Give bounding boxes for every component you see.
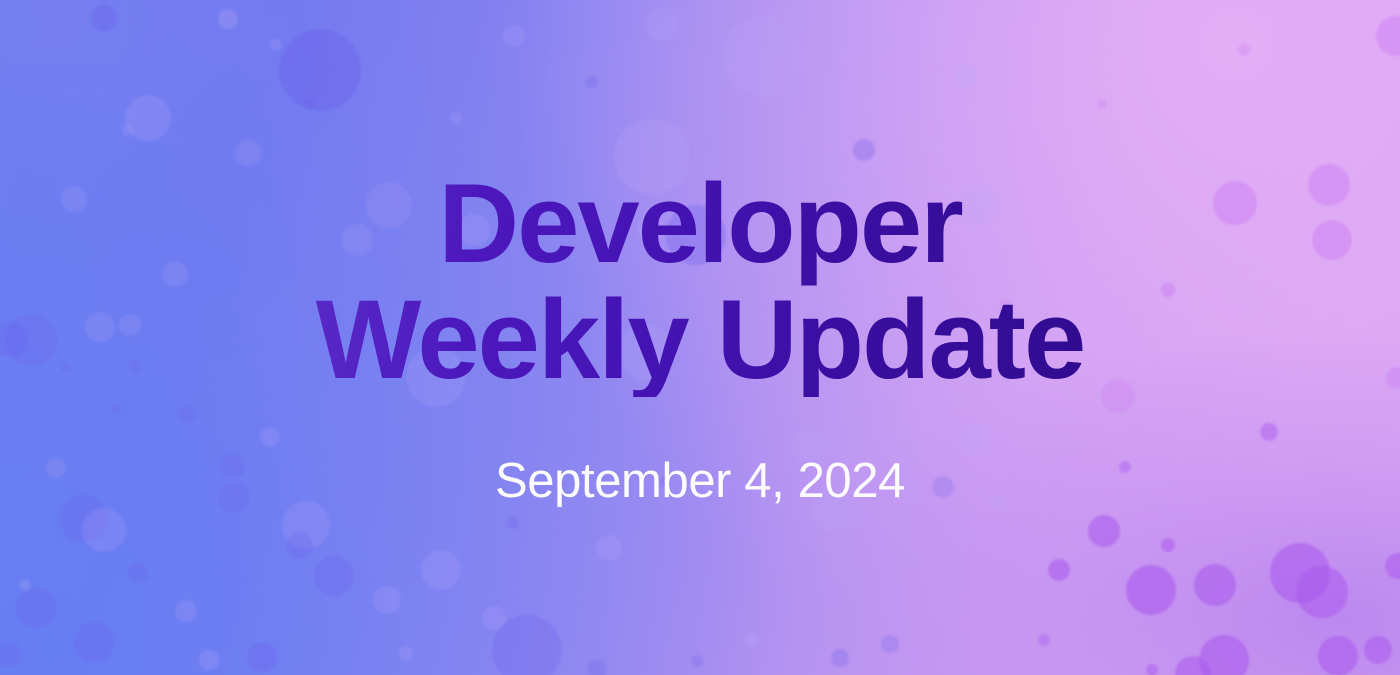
page-title: Developer Weekly Update (310, 166, 1091, 397)
page-title-line-2: Weekly Update (316, 282, 1085, 397)
issue-date: September 4, 2024 (495, 453, 905, 509)
developer-weekly-update-banner: Developer Weekly Update September 4, 202… (0, 0, 1400, 675)
page-title-line-1: Developer (316, 166, 1085, 281)
banner-content: Developer Weekly Update September 4, 202… (0, 0, 1400, 675)
